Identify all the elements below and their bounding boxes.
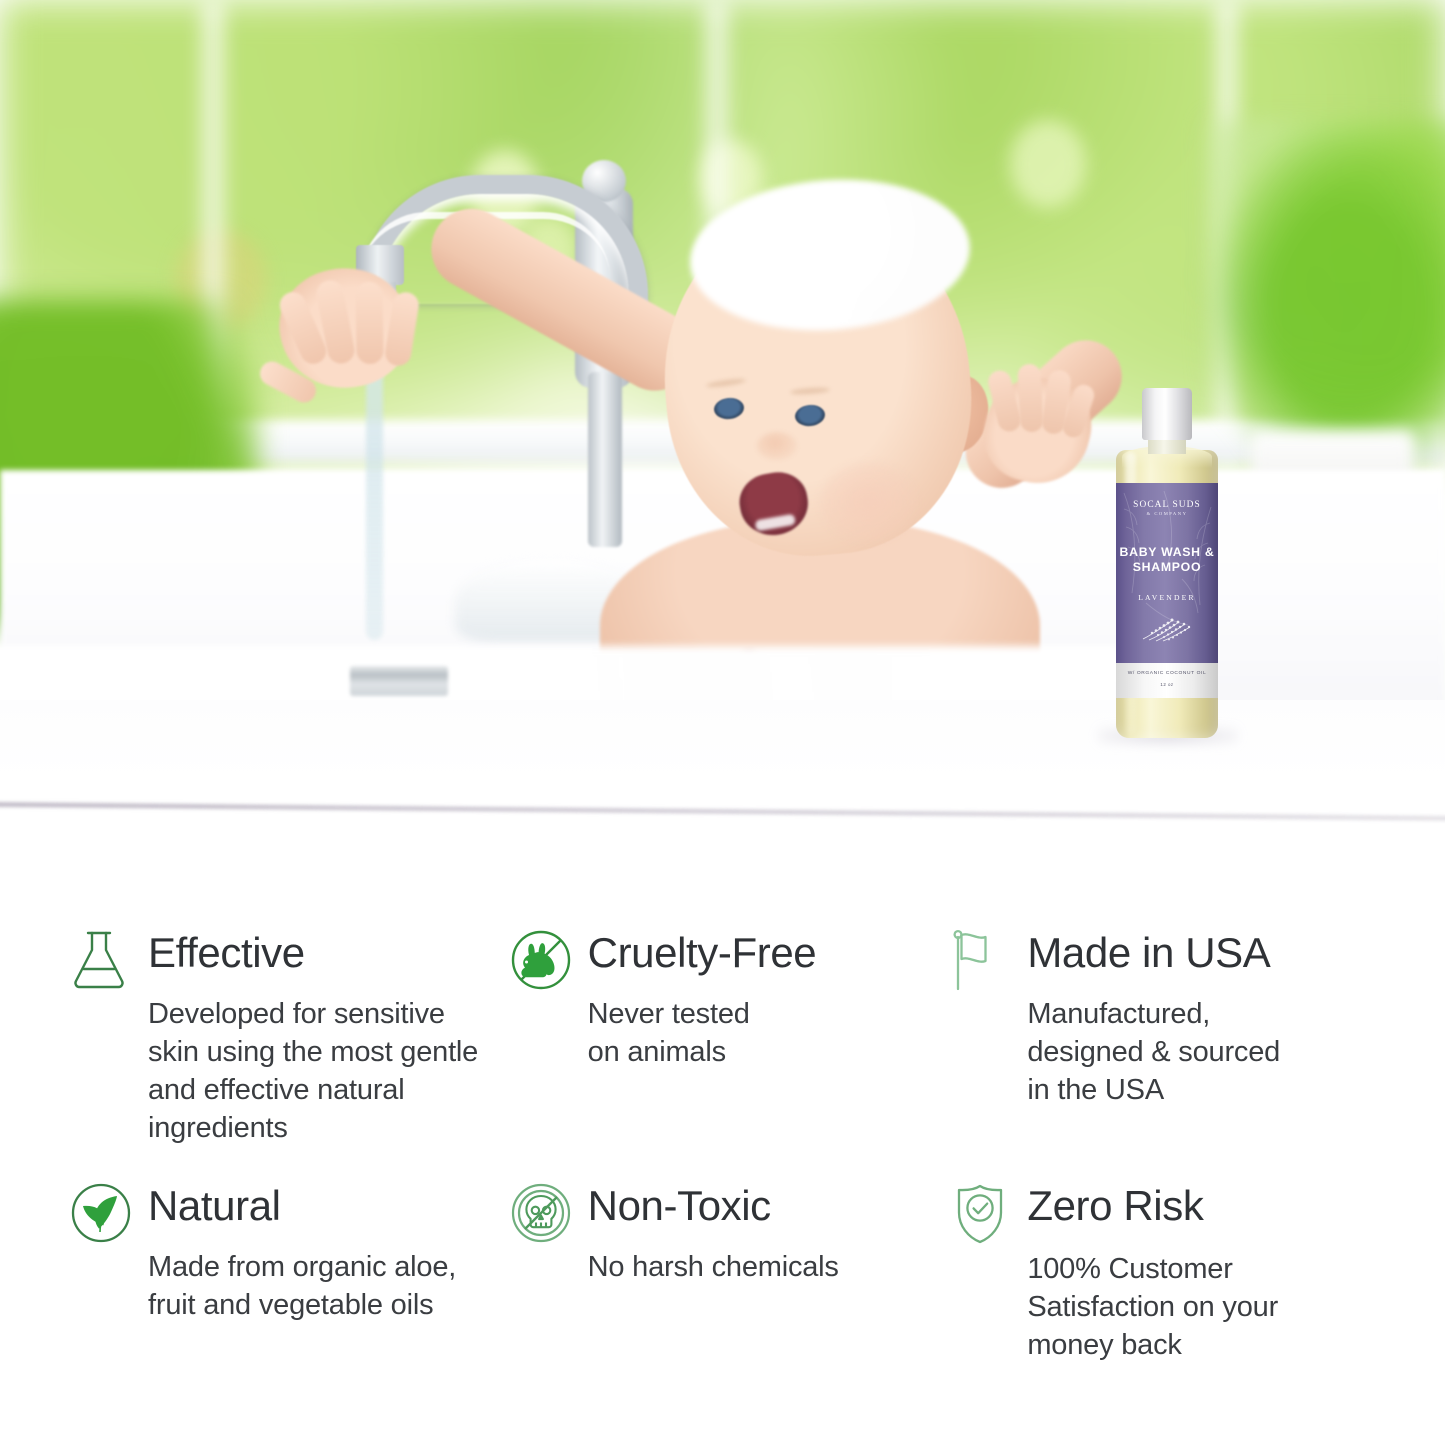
no-skull-icon (510, 1182, 572, 1244)
grass-plant-right (1205, 120, 1445, 470)
feature-non-toxic: Non-Toxic No harsh chemicals (510, 1170, 950, 1415)
faucet-stem (588, 372, 622, 547)
bottle-cap[interactable] (1142, 388, 1192, 440)
bottle-brand-subtitle: & COMPANY (1116, 511, 1218, 516)
feature-description: Never tested on animals (588, 991, 932, 1071)
bottle-neck (1148, 438, 1186, 454)
flask-icon-wrap (70, 925, 148, 991)
no-skull-icon-wrap (510, 1178, 588, 1244)
product-feature-page: SOCAL SUDS & COMPANY BABY WASH & SHAMPOO… (0, 0, 1445, 1445)
baby-cheek (820, 462, 916, 542)
feature-title: Effective (148, 925, 492, 991)
feature-title: Cruelty-Free (588, 925, 932, 991)
feature-grid: Effective Developed for sensitive skin u… (0, 905, 1445, 1445)
feature-description: 100% Customer Satisfaction on your money… (1027, 1246, 1371, 1364)
feature-effective: Effective Developed for sensitive skin u… (70, 925, 510, 1170)
feature-description: Made from organic aloe, fruit and vegeta… (148, 1244, 492, 1324)
shield-check-icon (949, 1182, 1011, 1246)
flask-icon (70, 929, 128, 991)
bottle-size: 12 oz (1116, 682, 1218, 687)
feature-made-in-usa: Made in USA Manufactured, designed & sou… (949, 925, 1389, 1170)
bottle-product-name: BABY WASH & SHAMPOO (1116, 545, 1218, 575)
feature-description: Manufactured, designed & sourced in the … (1027, 991, 1371, 1109)
leaves-icon-wrap (70, 1178, 148, 1244)
product-bottle[interactable]: SOCAL SUDS & COMPANY BABY WASH & SHAMPOO… (1108, 388, 1226, 738)
feature-title: Made in USA (1027, 925, 1371, 991)
hero-photo: SOCAL SUDS & COMPANY BABY WASH & SHAMPOO… (0, 0, 1445, 900)
bottle-ingredient-note: W/ ORGANIC COCONUT OIL (1116, 671, 1218, 676)
feature-title: Non-Toxic (588, 1178, 932, 1244)
baby-nose (757, 432, 797, 460)
bottle-bottom-label: W/ ORGANIC COCONUT OIL 12 oz (1116, 663, 1218, 698)
no-animal-testing-icon (510, 929, 572, 991)
flag-icon-wrap (949, 925, 1027, 991)
baby-finger (355, 282, 383, 364)
bottle-main-label: SOCAL SUDS & COMPANY BABY WASH & SHAMPOO… (1116, 483, 1218, 663)
feature-title: Natural (148, 1178, 492, 1244)
bottle-brand-name: SOCAL SUDS (1116, 500, 1218, 510)
flag-icon (949, 929, 1009, 991)
bottle-scent-name: LAVENDER (1116, 593, 1218, 602)
feature-title: Zero Risk (1027, 1178, 1371, 1246)
leaves-icon (70, 1182, 132, 1244)
feature-description: Developed for sensitive skin using the m… (148, 991, 492, 1147)
shield-check-icon-wrap (949, 1178, 1027, 1246)
lavender-sprig-icon (1139, 616, 1195, 642)
feature-natural: Natural Made from organic aloe, fruit an… (70, 1170, 510, 1415)
feature-cruelty-free: Cruelty-Free Never tested on animals (510, 925, 950, 1170)
no-animal-testing-icon-wrap (510, 925, 588, 991)
feature-description: No harsh chemicals (588, 1244, 932, 1286)
sink-drain-plug (350, 666, 448, 696)
feature-zero-risk: Zero Risk 100% Customer Satisfaction on … (949, 1170, 1389, 1415)
baby-finger (1017, 363, 1044, 432)
